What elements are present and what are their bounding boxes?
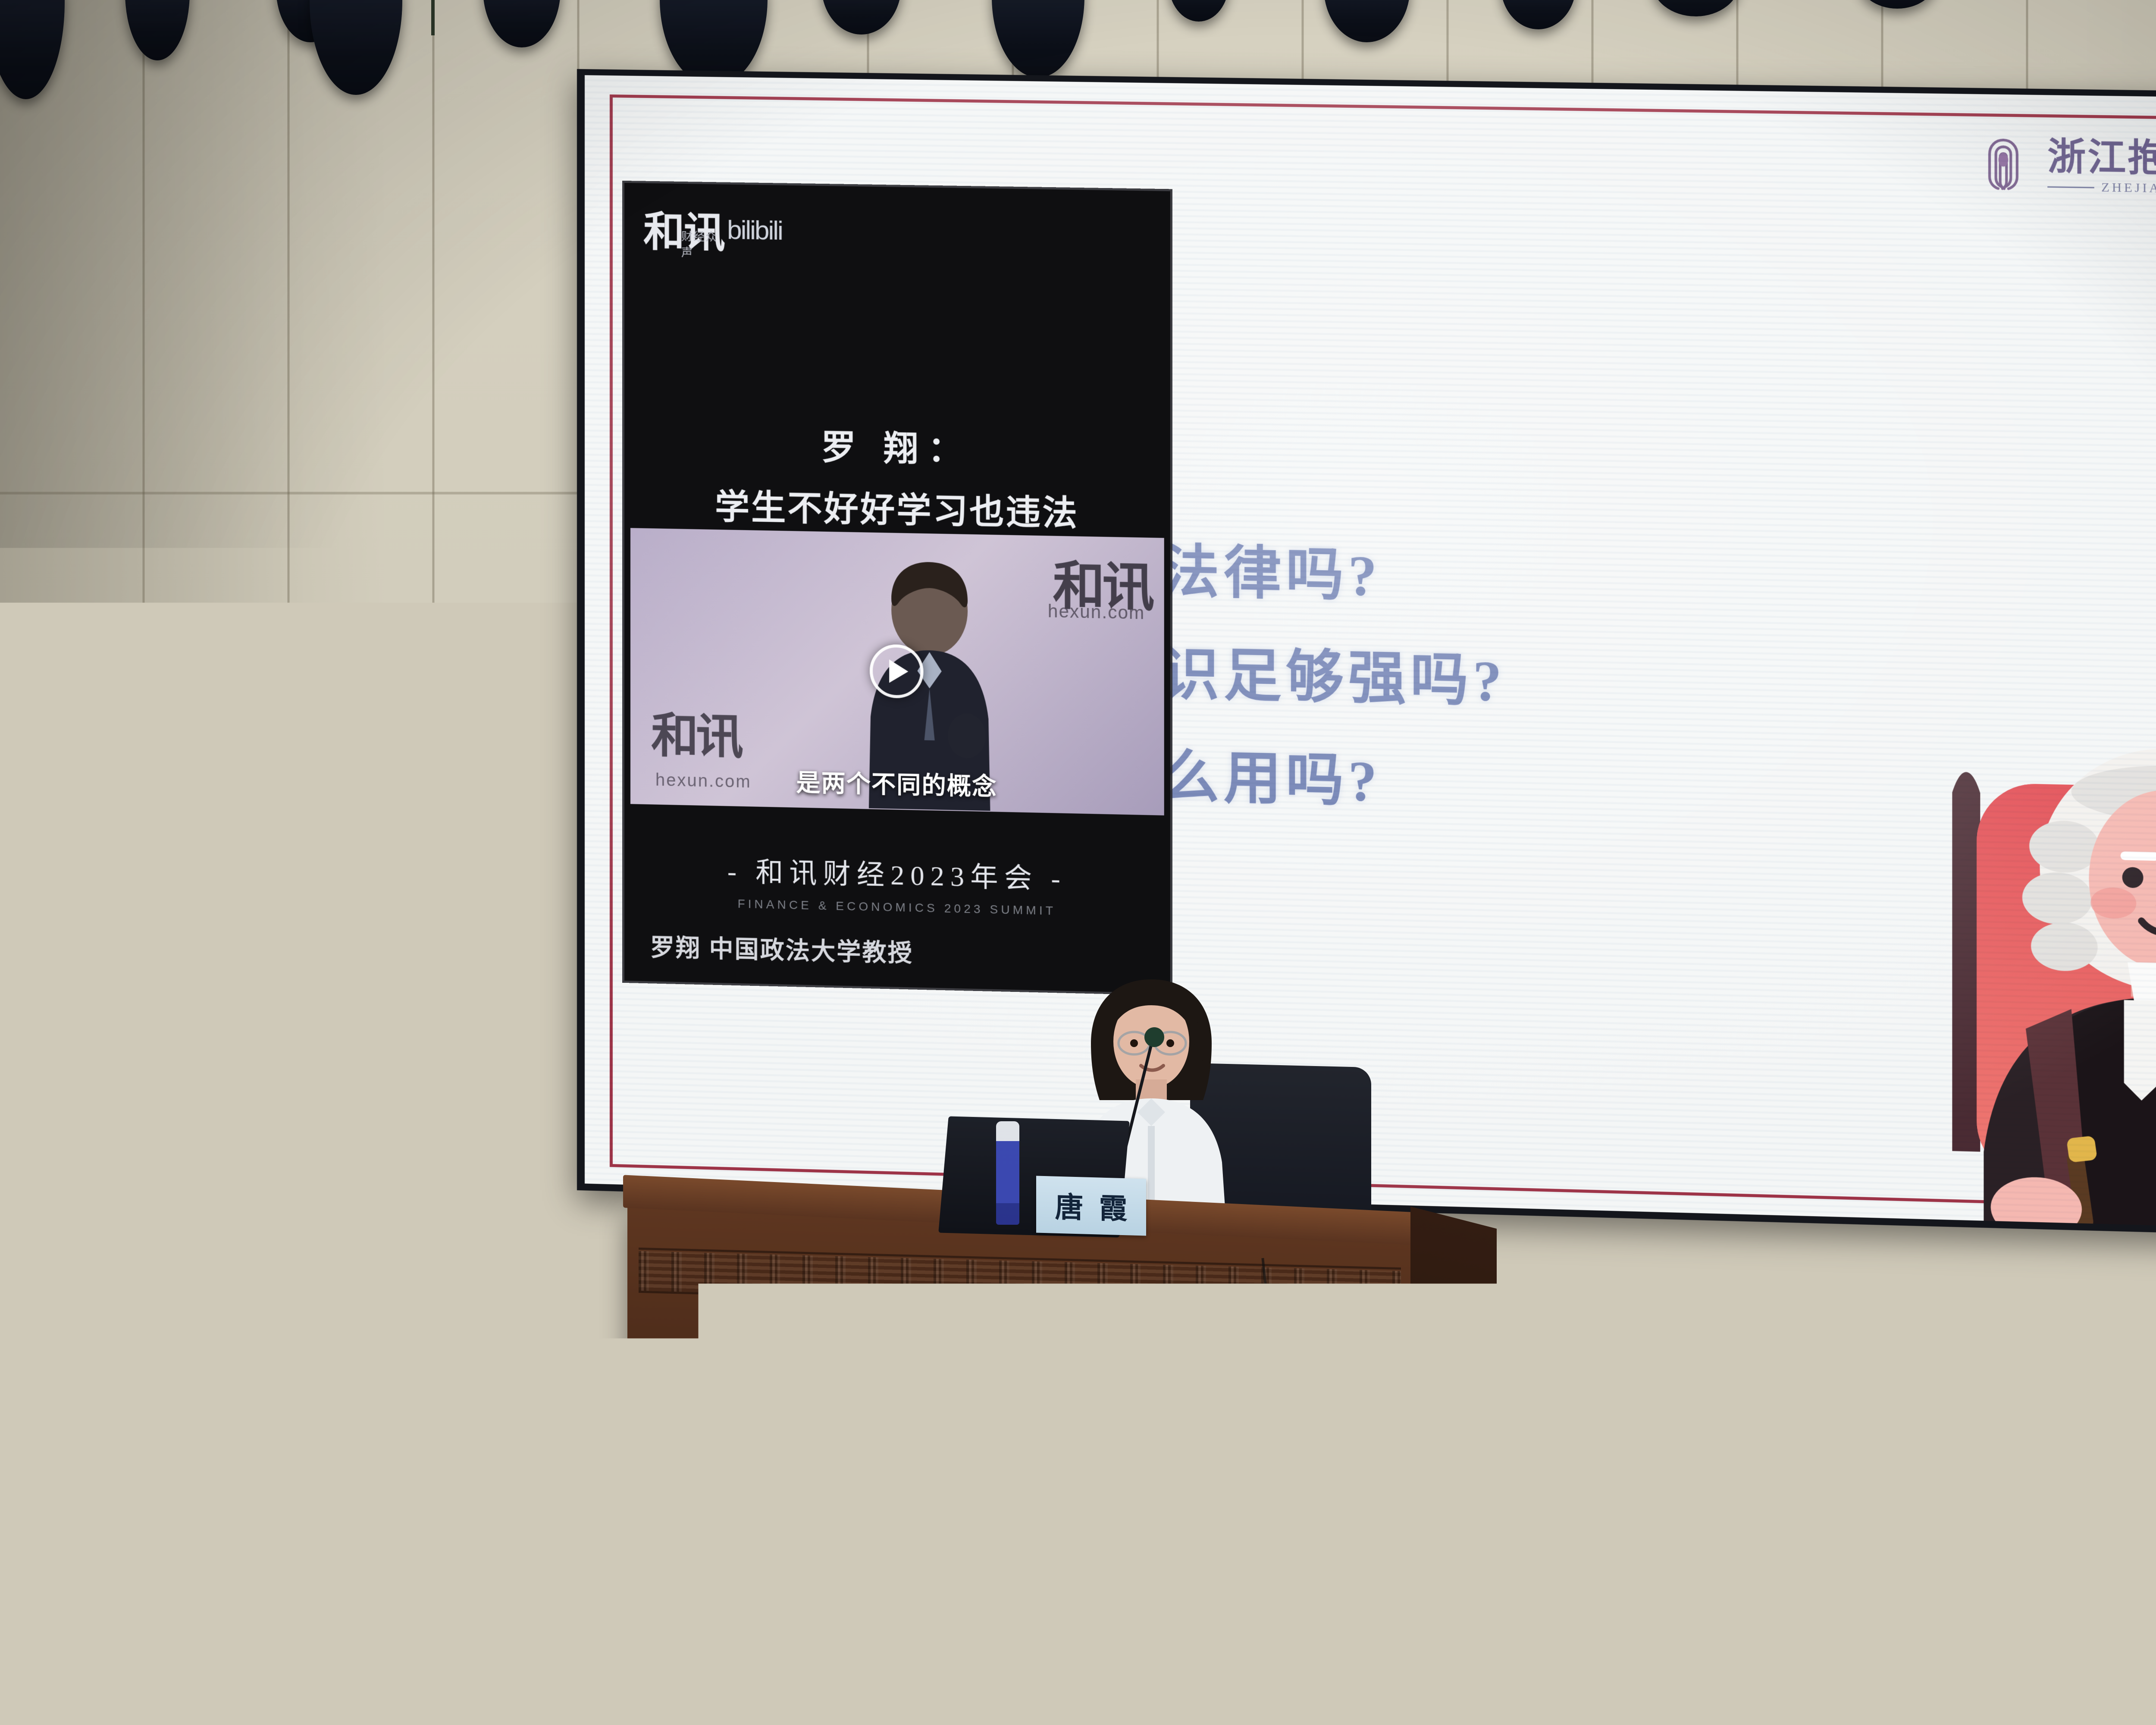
video-title-block: 罗 翔： 学生不好好学习也违法: [624, 416, 1170, 537]
backdrop-domain-top: hexun.com: [1048, 601, 1145, 624]
play-triangle-icon: [889, 659, 908, 683]
speaker-credit: 罗翔 中国政法大学教授: [650, 928, 913, 969]
drink-cup: [821, 1669, 861, 1725]
wall-fixture-left: [0, 1050, 26, 1123]
screenshot-root: 浙江抱朴律师事务所 ZHEJIANG SINCERE LAW FIRM 你真的了…: [0, 0, 2156, 1725]
stage-light-icon: [1169, 0, 1229, 22]
stage-light-icon: [1858, 0, 1936, 9]
stage-light-icon: [0, 0, 65, 99]
stage-light-icon: [1651, 0, 1740, 16]
stage-light-icon: [483, 0, 561, 47]
audience-head: [966, 1501, 1143, 1725]
name-plate-char-2: 霞: [1099, 1186, 1128, 1228]
water-bottle: [996, 1121, 1019, 1225]
video-preview-frame[interactable]: 和讯 hexun.com 和讯 hexun.com 是两个不同的概念: [630, 528, 1164, 815]
summit-branding: - 和讯财经2023年会 - FINANCE & ECONOMICS 2023 …: [624, 847, 1170, 920]
audience-head: [250, 1561, 392, 1725]
play-button[interactable]: [870, 644, 924, 699]
bilibili-wordmark: bilibili: [727, 215, 782, 252]
logo-rule-left: [2047, 186, 2094, 188]
law-firm-name-en-row: ZHEJIANG SINCERE LAW FIRM: [2047, 179, 2156, 200]
name-plate-char-1: 唐: [1055, 1184, 1084, 1226]
stage-light-icon: [992, 0, 1084, 78]
stage-light-icon: [310, 0, 402, 95]
hexun-bilibili-logo: 财经众声 和讯 bilibili: [643, 213, 782, 252]
wall-shadow-left: [0, 0, 388, 1320]
light-stem: [431, 0, 435, 35]
stage-light-icon: [125, 0, 190, 60]
stage-light-icon: [1501, 0, 1576, 29]
audience-head: [1595, 1518, 1785, 1725]
summit-name-cn: - 和讯财经2023年会 -: [624, 847, 1170, 899]
fingerprint-ear-icon: [1974, 132, 2032, 199]
audience-row: [0, 1466, 2156, 1725]
name-plate: 唐 霞: [1036, 1176, 1146, 1236]
law-firm-name-en: ZHEJIANG SINCERE LAW FIRM: [2101, 180, 2156, 199]
audience-head: [1777, 1514, 1919, 1725]
video-thumbnail-card[interactable]: 财经众声 和讯 bilibili 罗 翔： 学生不好好学习也违法 和讯 hexu…: [624, 183, 1170, 993]
law-firm-logo: 浙江抱朴律师事务所 ZHEJIANG SINCERE LAW FIRM: [1974, 132, 2156, 205]
law-firm-name-cn: 浙江抱朴律师事务所: [2047, 138, 2156, 181]
summit-name-en: FINANCE & ECONOMICS 2023 SUMMIT: [624, 894, 1170, 920]
video-title-line-1: 罗 翔：: [624, 416, 1170, 476]
video-subtitle: 是两个不同的概念: [630, 759, 1164, 806]
audience-head: [1332, 1518, 1518, 1725]
audience-striped-shirt: [1919, 1643, 2048, 1725]
drink-straw: [832, 1609, 840, 1674]
backdrop-brand-bottom: 和讯: [651, 696, 741, 767]
judge-illustration: [1903, 702, 2156, 1233]
microphone-icon: [1144, 1027, 1164, 1047]
video-title-line-2: 学生不好好学习也违法: [624, 477, 1170, 537]
stage-light-icon: [821, 0, 901, 34]
stage-light-icon: [1324, 0, 1410, 42]
hexun-sub-label: 财经众声: [681, 228, 724, 261]
